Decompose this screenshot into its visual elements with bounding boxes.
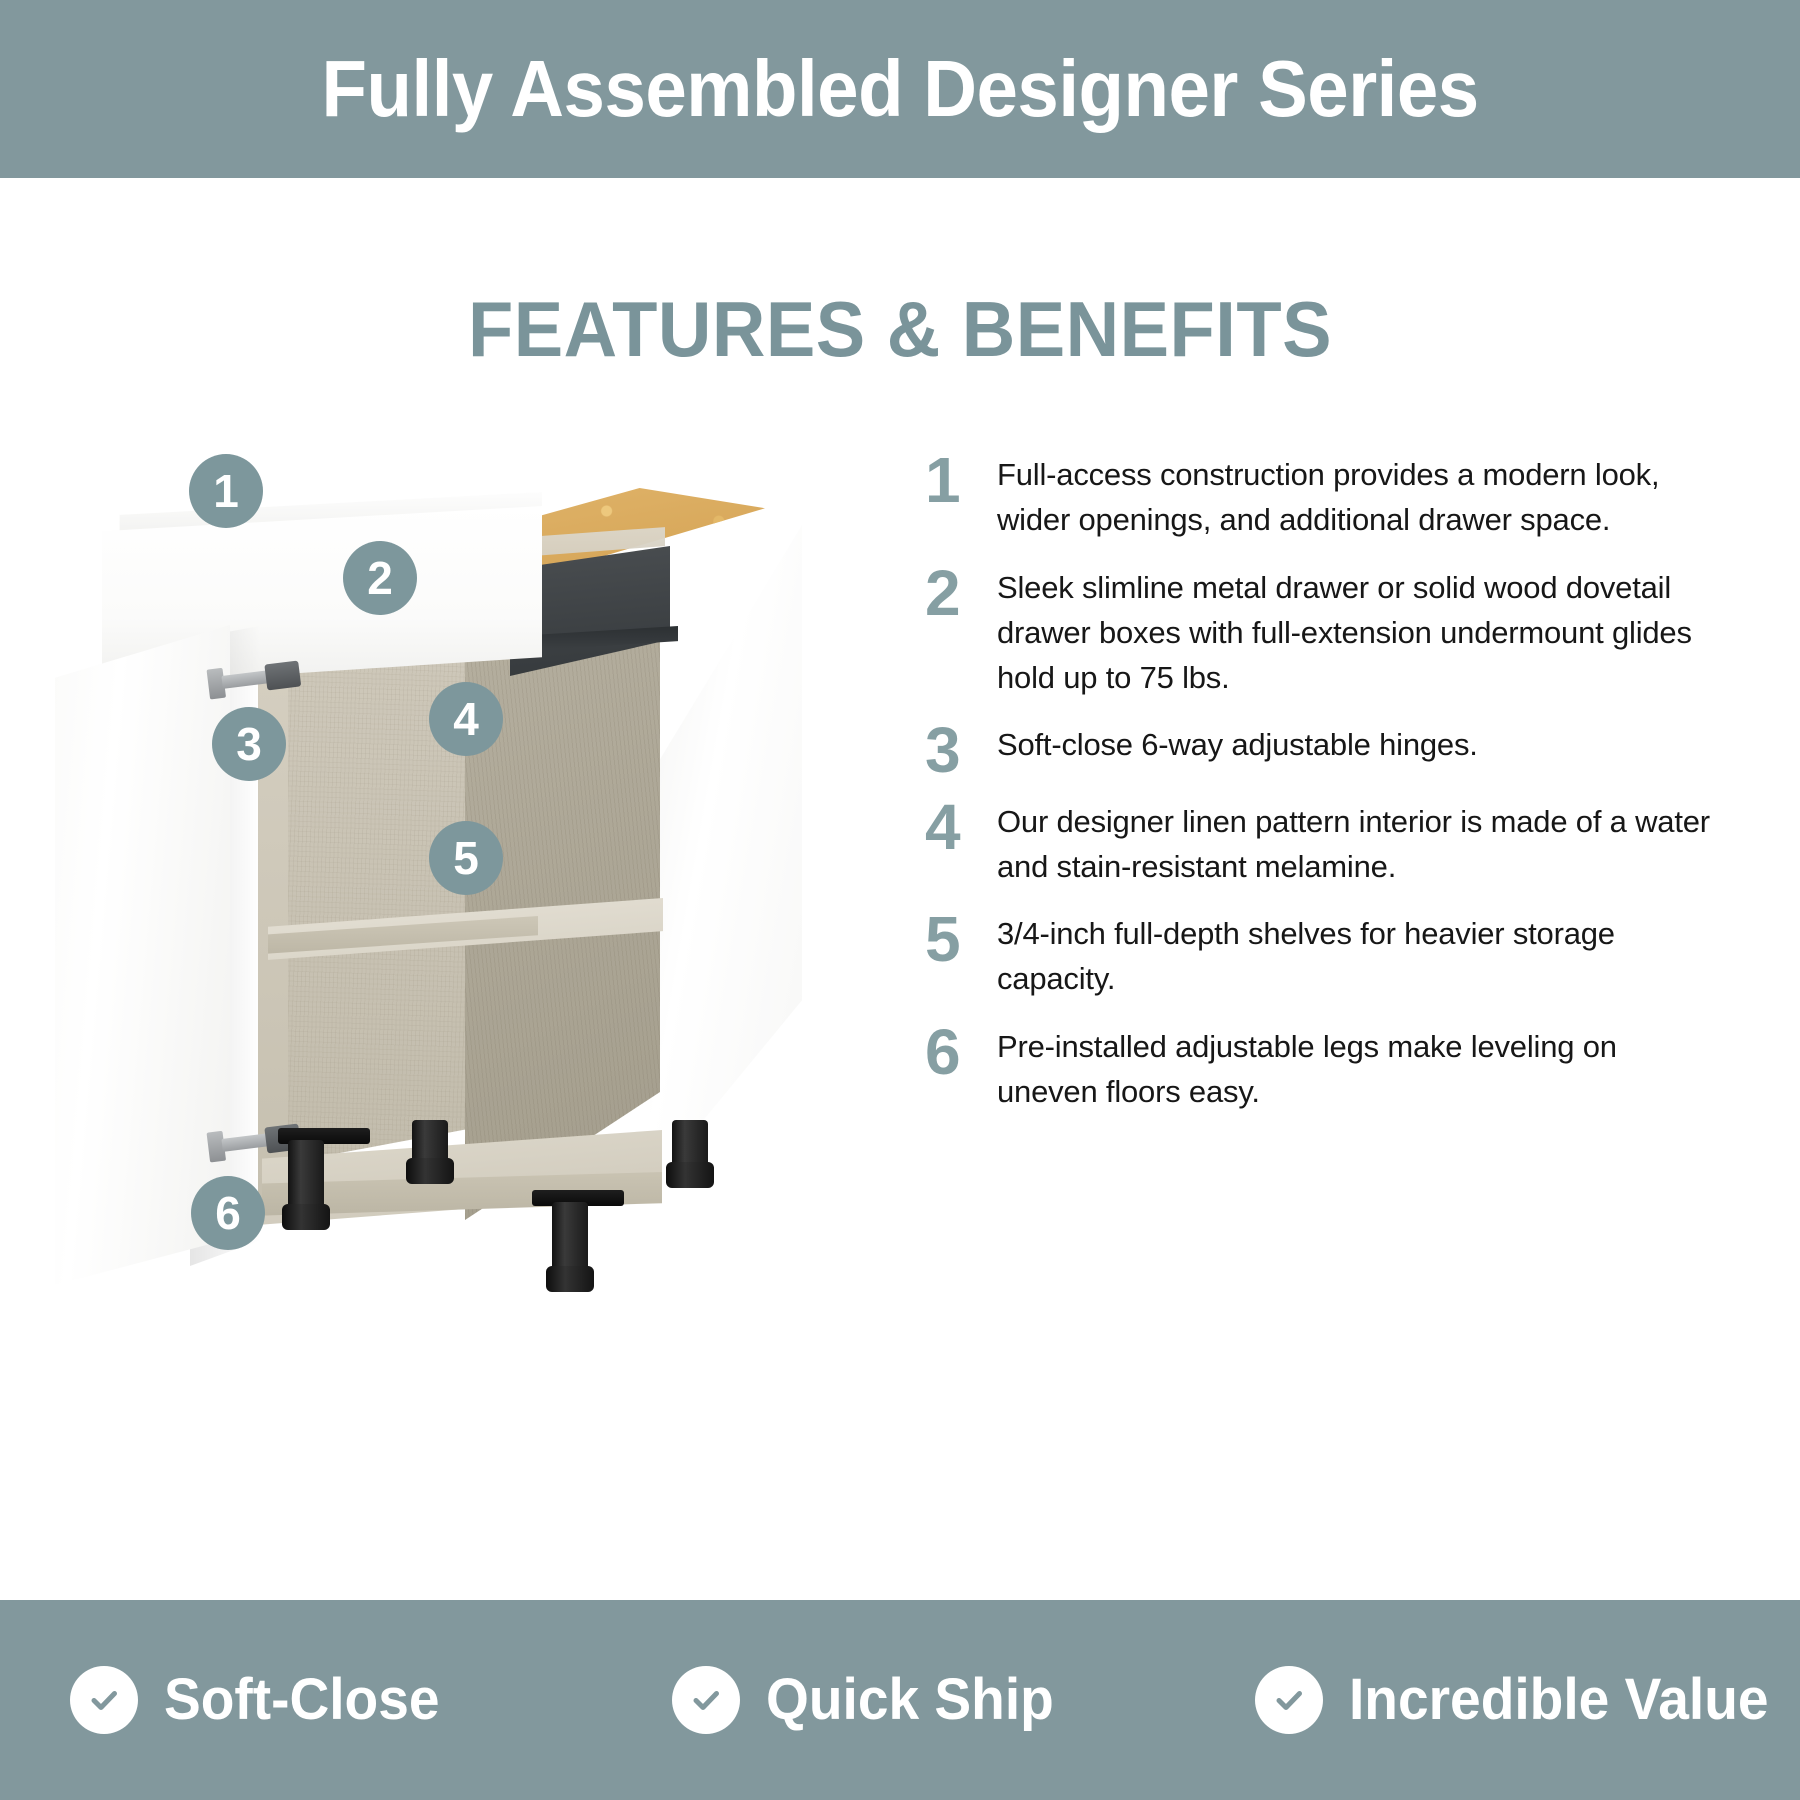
product-illustration: 123456 xyxy=(40,430,920,1430)
section-title: FEATURES & BENEFITS xyxy=(45,290,1755,368)
feature-description: Soft-close 6-way adjustable hinges. xyxy=(997,722,1715,767)
feature-description: Full-access construction provides a mode… xyxy=(997,452,1715,543)
adjustable-leg-front-right xyxy=(552,1202,588,1288)
feature-item-3: 3 Soft-close 6-way adjustable hinges. xyxy=(925,722,1715,776)
check-circle-icon xyxy=(672,1666,740,1734)
footer-badge-label: Quick Ship xyxy=(766,1671,1054,1729)
footer-badge-soft-close: Soft-Close xyxy=(70,1666,454,1734)
callout-badge-6: 6 xyxy=(191,1176,265,1250)
feature-item-5: 5 3/4-inch full-depth shelves for heavie… xyxy=(925,911,1715,1002)
footer-badge-quick-ship: Quick Ship xyxy=(672,1666,1069,1734)
feature-description: Our designer linen pattern interior is m… xyxy=(997,799,1715,890)
feature-number: 5 xyxy=(925,911,997,965)
feature-number: 1 xyxy=(925,452,997,506)
main-content: 123456 1 Full-access construction provid… xyxy=(0,430,1800,1550)
hinge-cup xyxy=(264,660,301,690)
footer-bar: Soft-Close Quick Ship Incredible Value xyxy=(0,1600,1800,1800)
cabinet-interior-side-panel xyxy=(465,580,660,1220)
feature-item-1: 1 Full-access construction provides a mo… xyxy=(925,452,1715,543)
check-circle-icon xyxy=(70,1666,138,1734)
footer-badge-label: Soft-Close xyxy=(164,1671,440,1729)
feature-description: Sleek slimline metal drawer or solid woo… xyxy=(997,565,1715,701)
feature-number: 3 xyxy=(925,722,997,776)
feature-item-4: 4 Our designer linen pattern interior is… xyxy=(925,799,1715,890)
feature-description: 3/4-inch full-depth shelves for heavier … xyxy=(997,911,1715,1002)
cabinet-right-side-panel xyxy=(650,525,802,1185)
feature-number: 2 xyxy=(925,565,997,619)
check-circle-icon xyxy=(1255,1666,1323,1734)
callout-badge-4: 4 xyxy=(429,682,503,756)
feature-item-6: 6 Pre-installed adjustable legs make lev… xyxy=(925,1024,1715,1115)
adjustable-leg-rear-left xyxy=(412,1120,448,1180)
callout-badge-3: 3 xyxy=(212,707,286,781)
features-list: 1 Full-access construction provides a mo… xyxy=(925,452,1715,1136)
cabinet-graphic xyxy=(40,430,920,1430)
callout-badge-2: 2 xyxy=(343,541,417,615)
feature-item-2: 2 Sleek slimline metal drawer or solid w… xyxy=(925,565,1715,701)
feature-number: 6 xyxy=(925,1024,997,1078)
header-bar: Fully Assembled Designer Series xyxy=(0,0,1800,178)
callout-badge-1: 1 xyxy=(189,454,263,528)
callout-badge-5: 5 xyxy=(429,821,503,895)
adjustable-leg-front-left xyxy=(288,1140,324,1226)
feature-description: Pre-installed adjustable legs make level… xyxy=(997,1024,1715,1115)
footer-badge-label: Incredible Value xyxy=(1349,1671,1769,1729)
footer-badge-incredible-value: Incredible Value xyxy=(1255,1666,1791,1734)
adjustable-leg-rear-right xyxy=(672,1120,708,1184)
feature-number: 4 xyxy=(925,799,997,853)
page-title: Fully Assembled Designer Series xyxy=(321,49,1478,129)
